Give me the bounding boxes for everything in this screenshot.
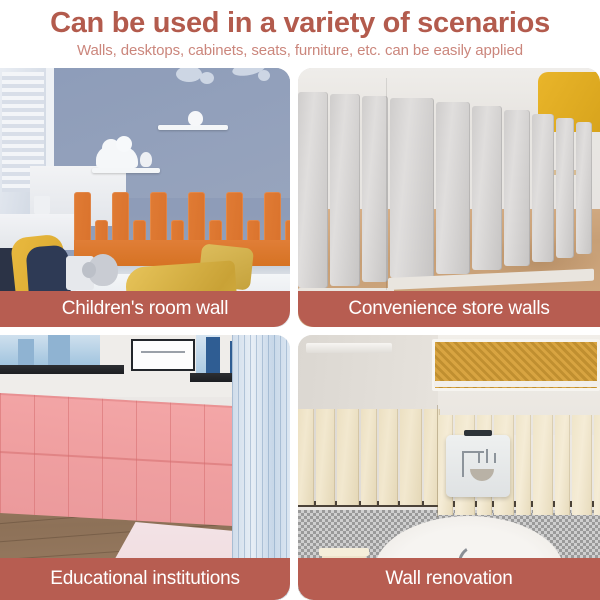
card-caption-label: Wall renovation	[385, 568, 512, 590]
ceiling-mobile-decor	[170, 68, 290, 90]
page-subtitle: Walls, desktops, cabinets, seats, furnit…	[0, 41, 600, 61]
card-caption-label: Educational institutions	[50, 568, 240, 590]
photo-convenience-store	[298, 68, 600, 327]
page-title: Can be used in a variety of scenarios	[0, 6, 600, 40]
scenario-card-convenience-store-walls[interactable]: Convenience store walls	[298, 68, 600, 327]
card-caption: Wall renovation	[298, 558, 600, 600]
scenario-grid: Children's room wall Convenience store w…	[0, 68, 600, 600]
photo-childrens-room	[0, 68, 290, 327]
card-caption-label: Convenience store walls	[348, 298, 549, 320]
scenarios-infographic: Can be used in a variety of scenarios Wa…	[0, 0, 600, 600]
scenario-card-wall-renovation[interactable]: Wall renovation	[298, 335, 600, 600]
card-caption: Educational institutions	[0, 558, 290, 600]
card-caption: Convenience store walls	[298, 291, 600, 327]
toy-suitcase	[446, 435, 510, 497]
scenario-card-educational-institutions[interactable]: Educational institutions	[0, 335, 290, 600]
scenario-card-childrens-room-wall[interactable]: Children's room wall	[0, 68, 290, 327]
header: Can be used in a variety of scenarios Wa…	[0, 0, 600, 61]
card-caption: Children's room wall	[0, 291, 290, 327]
card-caption-label: Children's room wall	[62, 298, 228, 320]
